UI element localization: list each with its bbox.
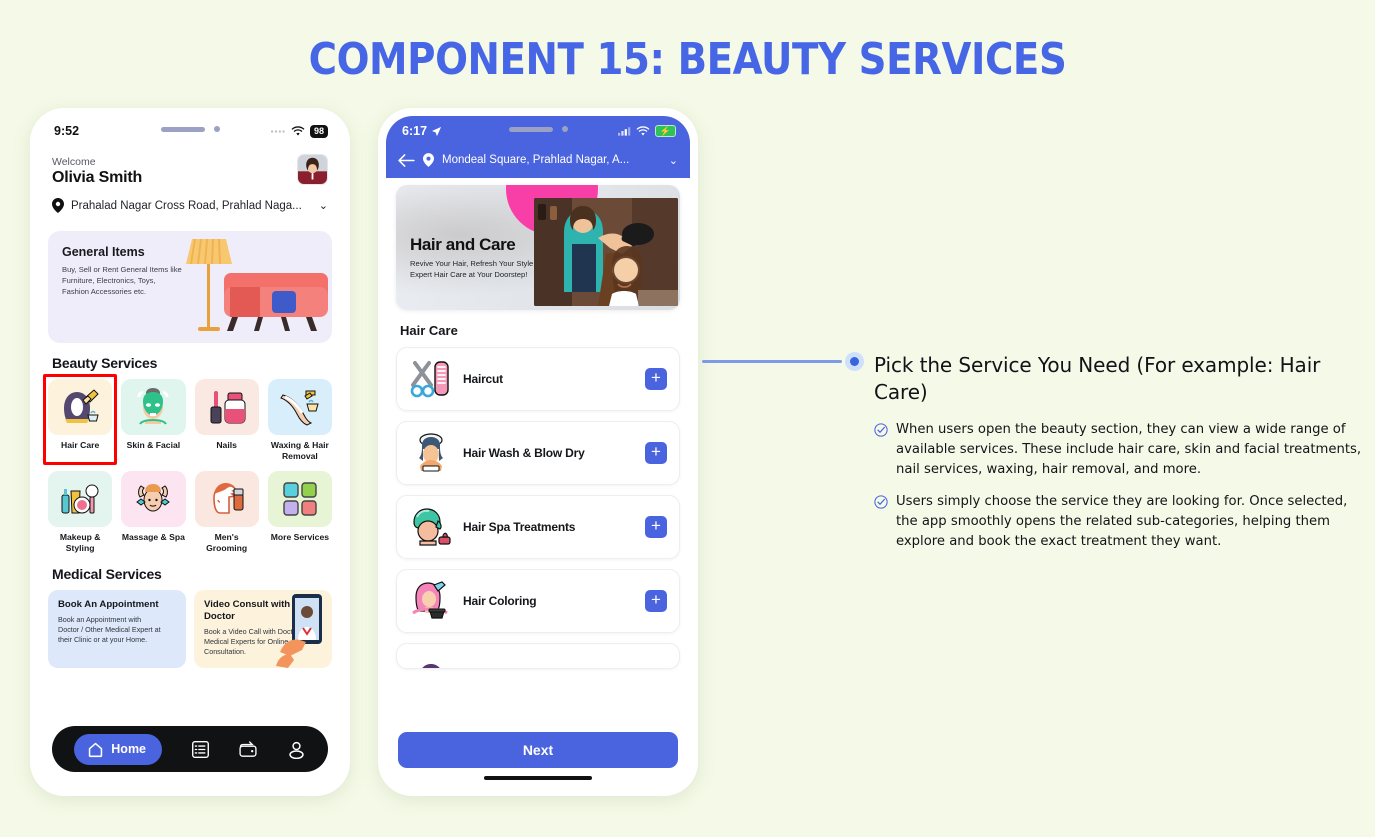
service-name: Hair Wash & Blow Dry [463,446,635,460]
location-pin-icon [52,198,64,213]
profile-icon [287,740,306,759]
callout-marker-dot [845,352,864,371]
service-item-partial[interactable] [396,643,680,669]
service-name: Haircut [463,372,635,386]
partial-service-icon [409,650,453,669]
tile-waxing[interactable]: Waxing & Hair Removal [268,379,332,462]
tile-nails[interactable]: Nails [195,379,259,462]
makeup-icon [48,471,112,527]
medical-services-title: Medical Services [52,566,332,582]
video-consult-illustration [270,590,332,668]
general-items-card[interactable]: General Items Buy, Sell or Rent General … [48,231,332,343]
page-title: COMPONENT 15: BEAUTY SERVICES [83,34,1293,85]
phone2-notch [479,118,597,140]
phone2-content: Hair and Care Revive Your Hair, Refresh … [386,185,690,788]
screenshot-root: COMPONENT 15: BEAUTY SERVICES 9:52 ▪▪▪▪ … [0,0,1375,837]
orders-list-icon [191,740,210,759]
nav-item-profile[interactable] [287,740,306,759]
callout-panel: Pick the Service You Need (For example: … [874,352,1362,564]
status-indicators: ⚡ [618,125,676,137]
front-camera [562,126,568,132]
service-item-hair-wash[interactable]: Hair Wash & Blow Dry + [396,421,680,485]
chevron-down-icon[interactable]: ⌄ [319,199,328,212]
tile-label: Waxing & Hair Removal [268,440,332,462]
service-item-haircut[interactable]: Haircut + [396,347,680,411]
phone1-screen: 9:52 ▪▪▪▪ 98 Welcome Olivia Smith [38,116,342,788]
front-camera [214,126,220,132]
phone1-status-bar: 9:52 ▪▪▪▪ 98 [38,116,342,146]
tile-label: Nails [195,440,259,451]
furniture-illustration [162,231,332,343]
hair-coloring-icon [409,579,453,623]
phone2-topbar: Mondeal Square, Prahlad Nagar, A... ⌄ [386,146,690,178]
add-service-button[interactable]: + [645,368,667,390]
phone1-header: Welcome Olivia Smith [38,146,342,225]
status-left: 6:17 [402,124,442,138]
hair-care-icon [48,379,112,435]
callout-connector-line [702,360,842,363]
callout-bullet: When users open the beauty section, they… [874,420,1362,480]
service-name: Hair Spa Treatments [463,520,635,534]
add-service-button[interactable]: + [645,590,667,612]
next-button-container: Next [386,722,690,788]
hair-spa-icon [409,505,453,549]
wallet-icon [238,740,258,759]
tile-more-services[interactable]: More Services [268,471,332,554]
phone1-content: General Items Buy, Sell or Rent General … [38,231,342,668]
tile-label: More Services [268,532,332,543]
avatar[interactable] [297,154,328,185]
salon-blowdry-photo [534,198,678,306]
service-item-hair-coloring[interactable]: Hair Coloring + [396,569,680,633]
banner-subtitle-line1: Revive Your Hair, Refresh Your Style [410,258,533,269]
service-item-hair-spa[interactable]: Hair Spa Treatments + [396,495,680,559]
nav-item-orders[interactable] [191,740,210,759]
general-items-title: General Items [62,245,145,259]
navigation-arrow-icon [431,126,442,137]
check-circle-icon [874,423,888,480]
battery-level: 98 [310,125,328,138]
hair-care-section-title: Hair Care [400,323,680,338]
card-subtitle: Book an Appointment with Doctor / Other … [58,615,162,645]
tile-massage[interactable]: Massage & Spa [121,471,185,554]
check-circle-icon [874,495,888,552]
callout-marker-dot-inner [850,357,859,366]
phone2-status-bar: 6:17 [386,116,690,146]
status-time: 9:52 [54,124,79,138]
banner-subtitle: Revive Your Hair, Refresh Your Style Exp… [410,258,533,280]
speaker-grill [161,127,205,132]
user-name: Olivia Smith [52,169,328,187]
phone2-screen: 6:17 [386,116,690,788]
back-arrow-icon[interactable] [398,154,415,167]
phone-mockup-home: 9:52 ▪▪▪▪ 98 Welcome Olivia Smith [30,108,350,796]
scissors-comb-icon [409,357,453,401]
skin-facial-icon [121,379,185,435]
status-time: 6:17 [402,124,427,138]
service-name: Hair Coloring [463,594,635,608]
speaker-grill [509,127,553,132]
hair-and-care-banner[interactable]: Hair and Care Revive Your Hair, Refresh … [396,185,680,310]
tile-label: Massage & Spa [121,532,185,543]
card-book-appointment[interactable]: Book An Appointment Book an Appointment … [48,590,186,668]
tile-skin-facial[interactable]: Skin & Facial [121,379,185,462]
waxing-icon [268,379,332,435]
banner-title: Hair and Care [410,235,515,255]
nav-home-label: Home [111,742,146,756]
tile-hair-care[interactable]: Hair Care [48,379,112,462]
location-text: Prahalad Nagar Cross Road, Prahlad Naga.… [71,200,312,212]
banner-subtitle-line2: Expert Hair Care at Your Doorstep! [410,269,533,280]
tile-mens-grooming[interactable]: Men's Grooming [195,471,259,554]
callout-bullet: Users simply choose the service they are… [874,492,1362,552]
location-pin-icon [423,153,434,167]
beauty-services-grid: Hair Care [48,379,332,554]
home-indicator [484,776,592,780]
mens-grooming-icon [195,471,259,527]
nav-item-home[interactable]: Home [74,734,162,765]
bottom-nav: Home [52,726,328,772]
tile-label: Hair Care [48,440,112,451]
add-service-button[interactable]: + [645,442,667,464]
tile-label: Men's Grooming [195,532,259,554]
massage-icon [121,471,185,527]
wifi-icon [636,126,650,137]
callout-bullet-text: When users open the beauty section, they… [896,420,1362,480]
card-video-consult[interactable]: Video Consult with Doctor Book a Video C… [194,590,332,668]
signal-icon [618,126,631,136]
tile-makeup[interactable]: Makeup & Styling [48,471,112,554]
medical-cards: Book An Appointment Book an Appointment … [48,590,332,668]
tile-label: Skin & Facial [121,440,185,451]
location-row[interactable]: Prahalad Nagar Cross Road, Prahlad Naga.… [52,198,328,213]
status-indicators: ▪▪▪▪ 98 [271,125,328,138]
battery-charging-icon: ⚡ [655,125,676,137]
chevron-down-icon[interactable]: ⌄ [669,154,678,167]
wifi-icon [291,126,305,137]
phone1-notch [131,118,249,140]
phone-mockup-haircare: 6:17 [378,108,698,796]
welcome-label: Welcome [52,156,328,168]
phone2-top: 6:17 [386,116,690,178]
hair-wash-icon [409,431,453,475]
address-text: Mondeal Square, Prahlad Nagar, A... [442,154,661,166]
signal-icon: ▪▪▪▪ [271,127,286,136]
nav-item-wallet[interactable] [238,740,258,759]
callout-bullet-text: Users simply choose the service they are… [896,492,1362,552]
card-title: Book An Appointment [58,599,176,611]
beauty-services-title: Beauty Services [52,355,332,371]
add-service-button[interactable]: + [645,516,667,538]
next-button[interactable]: Next [398,732,678,768]
tile-label: Makeup & Styling [48,532,112,554]
more-services-icon [268,471,332,527]
callout-heading: Pick the Service You Need (For example: … [874,352,1362,406]
nails-icon [195,379,259,435]
home-icon [87,741,104,758]
callout-bullets: When users open the beauty section, they… [874,420,1362,552]
